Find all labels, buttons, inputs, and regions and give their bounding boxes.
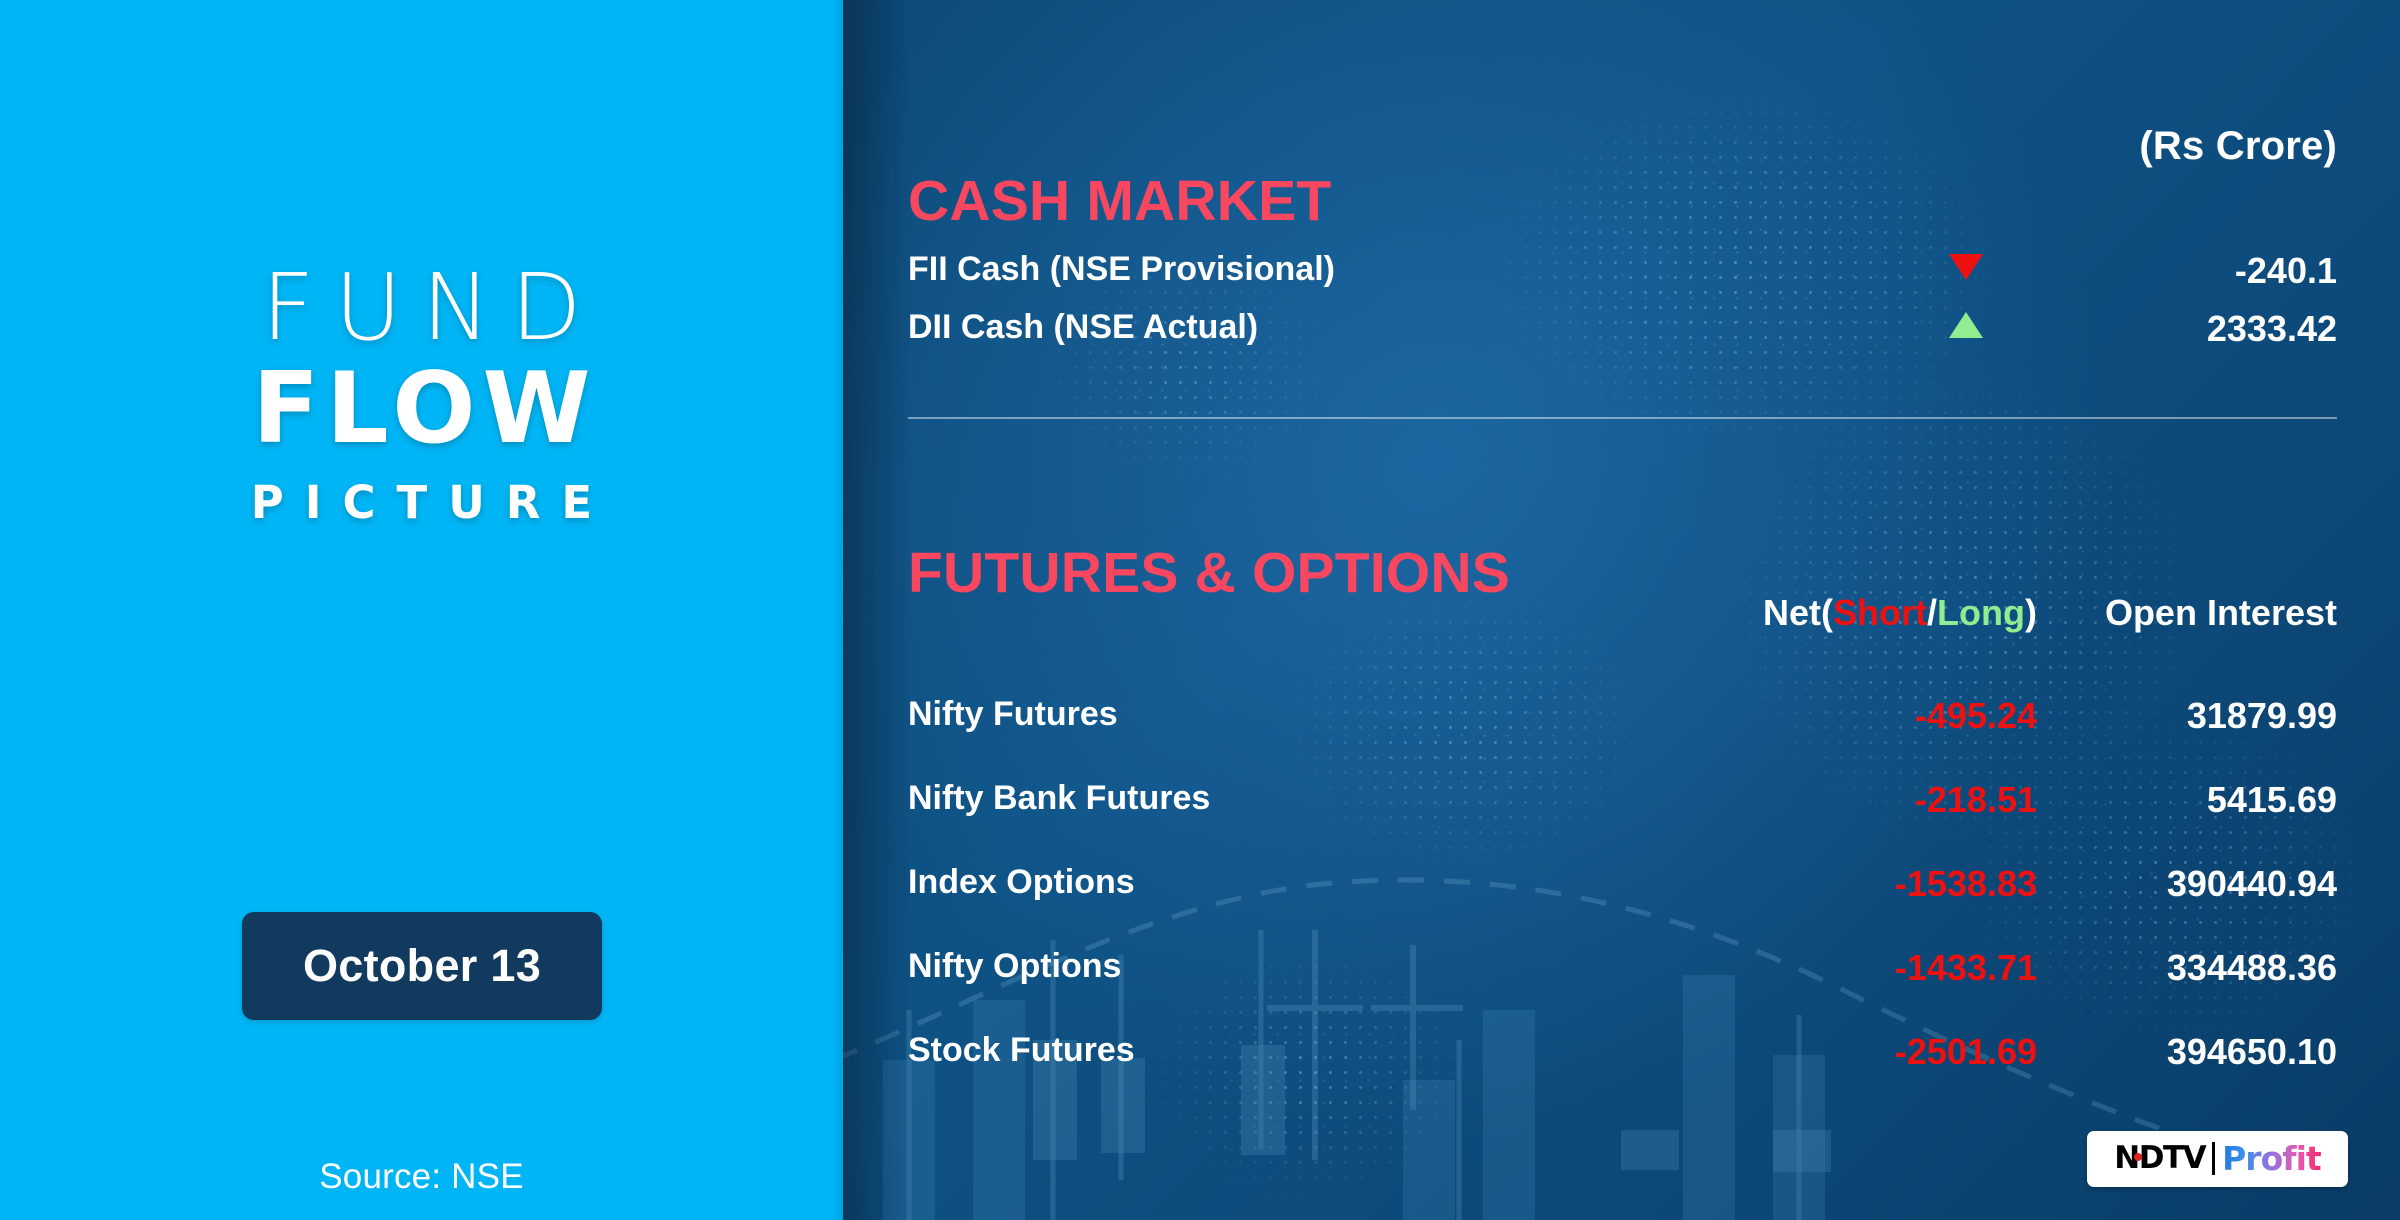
data-content-layer: (Rs Crore) CASH MARKET FII Cash (NSE Pro…	[843, 0, 2400, 1220]
cash-row-fii-value: -240.1	[2235, 250, 2337, 292]
cash-row-dii-value: 2333.42	[2207, 308, 2337, 350]
net-short-word: Short	[1833, 592, 1927, 633]
left-branding-panel: FUND FLOW PICTURE October 13 Source: NSE	[0, 0, 843, 1220]
open-interest-header: Open Interest	[2105, 592, 2337, 634]
fno-row-2-net: -1538.83	[1895, 863, 2037, 905]
down-arrow-icon	[1949, 254, 1983, 280]
fno-row-3-label: Nifty Options	[908, 947, 1121, 986]
ndtv-text: NDTV	[2114, 1140, 2205, 1176]
fund-flow-picture-graphic: FUND FLOW PICTURE October 13 Source: NSE	[0, 0, 2400, 1220]
unit-note: (Rs Crore)	[2139, 124, 2337, 169]
cash-row-fii-label: FII Cash (NSE Provisional)	[908, 250, 1335, 289]
net-prefix: Net(	[1763, 592, 1833, 633]
fno-row-2-label: Index Options	[908, 863, 1135, 902]
date-badge: October 13	[242, 912, 602, 1020]
fno-row-0-net: -495.24	[1915, 695, 2037, 737]
fno-row-0-label: Nifty Futures	[908, 695, 1118, 734]
futures-options-title: FUTURES & OPTIONS	[908, 540, 1510, 606]
fno-row-4-oi: 394650.10	[2167, 1031, 2337, 1073]
ndtv-profit-logo: NDTV Profit	[2087, 1131, 2348, 1187]
fno-row-1-label: Nifty Bank Futures	[908, 779, 1210, 818]
cash-row-dii-label: DII Cash (NSE Actual)	[908, 308, 1258, 347]
source-note: Source: NSE	[0, 1157, 843, 1197]
fno-row-2-oi: 390440.94	[2167, 863, 2337, 905]
cash-market-divider	[908, 417, 2337, 419]
net-separator: /	[1927, 592, 1937, 633]
logo-line-picture: PICTURE	[0, 480, 843, 525]
net-suffix: )	[2025, 592, 2037, 633]
fno-row-1-net: -218.51	[1915, 779, 2037, 821]
fno-row-1-oi: 5415.69	[2207, 779, 2337, 821]
net-short-long-header: Net(Short/Long)	[1763, 592, 2037, 634]
up-arrow-icon	[1949, 312, 1983, 338]
fno-row-0-oi: 31879.99	[2187, 695, 2337, 737]
fno-row-4-label: Stock Futures	[908, 1031, 1135, 1070]
logo-line-flow: FLOW	[0, 358, 843, 462]
net-long-word: Long	[1937, 592, 2025, 633]
logo-line-fund: FUND	[0, 262, 843, 354]
fno-row-4-net: -2501.69	[1895, 1031, 2037, 1073]
ndtv-wordmark: NDTV	[2114, 1140, 2205, 1176]
fno-row-3-oi: 334488.36	[2167, 947, 2337, 989]
fund-flow-picture-logo: FUND FLOW PICTURE	[0, 262, 843, 525]
fno-row-3-net: -1433.71	[1895, 947, 2037, 989]
cash-market-title: CASH MARKET	[908, 168, 1331, 234]
panel-edge-shadow	[833, 0, 843, 1220]
ndtv-red-dot-icon	[2134, 1153, 2142, 1161]
profit-wordmark: Profit	[2222, 1139, 2321, 1178]
logo-divider-bar	[2212, 1142, 2215, 1175]
